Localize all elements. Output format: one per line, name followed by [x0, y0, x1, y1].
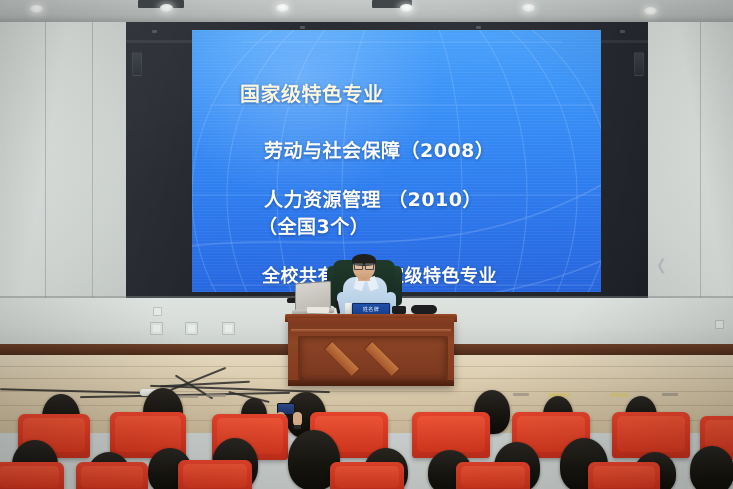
auditorium-seat[interactable] [588, 462, 660, 489]
slide-line-2: 人力资源管理 （2010） [264, 185, 482, 212]
seat-cushion [115, 416, 181, 452]
desk-base [288, 380, 454, 386]
wall-seam [92, 22, 93, 342]
seat-cushion [183, 464, 247, 488]
desk-front-panel [298, 336, 448, 382]
lecture-hall-photo: ❮ 国家级特色专业 劳动与社会保障（2008） 人力资 [0, 0, 733, 489]
downlight-icon [160, 4, 173, 12]
projected-slide: 国家级特色专业 劳动与社会保障（2008） 人力资源管理 （2010） （全国3… [192, 30, 601, 292]
bezel-vent [300, 26, 305, 29]
audience-head [690, 446, 733, 489]
chevron-left-icon[interactable]: ❮ [656, 258, 667, 273]
desk-device [392, 306, 406, 314]
wristwatch [294, 425, 301, 429]
wall-outlet-small[interactable] [153, 307, 162, 316]
desk-diamond-inlay-left [324, 341, 360, 377]
downlight-icon [276, 4, 289, 12]
auditorium-seat[interactable] [0, 462, 64, 489]
nameplate-text: 姓名牌 [363, 308, 379, 313]
downlight-icon [30, 5, 43, 13]
auditorium-seat[interactable] [76, 462, 148, 489]
seat-cushion [0, 466, 59, 488]
right-wall-panel [648, 22, 733, 342]
seat-cushion [461, 466, 525, 488]
seat-cushion [593, 466, 655, 488]
glasses-lens-right [365, 263, 374, 270]
seat-cushion [335, 466, 399, 488]
floor-marker [662, 393, 678, 396]
wall-outlet[interactable] [222, 322, 235, 335]
bezel-vent [152, 30, 157, 33]
auditorium-seat[interactable] [330, 462, 404, 489]
floor-tape [610, 393, 628, 397]
slide-line-3: （全国3个） [258, 212, 369, 239]
desk-headset [411, 305, 437, 314]
wall-outlet[interactable] [185, 322, 198, 335]
desk-trim [291, 329, 451, 332]
ceiling-speaker-icon [132, 52, 142, 76]
bezel-vent [620, 30, 625, 33]
auditorium-seat[interactable] [612, 412, 690, 458]
seat-cushion [417, 416, 485, 452]
downlight-icon [400, 4, 413, 12]
seat-cushion [81, 466, 143, 488]
downlight-icon [644, 7, 657, 15]
desk-diamond-inlay-right [364, 341, 400, 377]
audience-hand [293, 412, 302, 426]
downlight-icon [522, 4, 535, 12]
auditorium-seat[interactable] [456, 462, 530, 489]
bezel-vent [476, 26, 481, 29]
slide-text-block: 国家级特色专业 劳动与社会保障（2008） 人力资源管理 （2010） （全国3… [192, 30, 601, 292]
seat-cushion [617, 416, 685, 452]
left-wall-panel [0, 22, 126, 342]
wall-outlet[interactable] [150, 322, 163, 335]
bezel-rail [126, 40, 192, 43]
desk-papers [307, 307, 329, 313]
auditorium-seat[interactable] [178, 460, 252, 489]
wall-seam [700, 22, 701, 342]
wall-seam [45, 22, 46, 342]
wall-outlet-small[interactable] [715, 320, 724, 329]
floor-plank-line [0, 405, 733, 406]
floor-marker [206, 394, 226, 397]
floor-marker [513, 393, 529, 396]
ceiling-speaker-icon [634, 52, 644, 76]
slide-line-1: 劳动与社会保障（2008） [264, 136, 494, 163]
slide-title: 国家级特色专业 [240, 78, 384, 107]
bezel-rail [601, 40, 648, 43]
glasses-lens-left [354, 263, 363, 270]
